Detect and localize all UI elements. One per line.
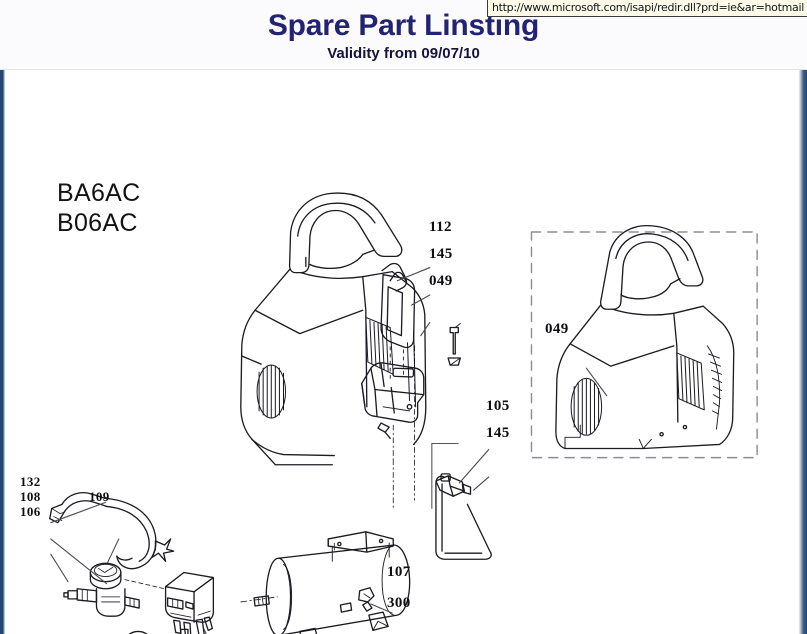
callout-108: 108 (20, 489, 41, 505)
model-code-1: BA6AC (57, 179, 140, 208)
callout-106: 106 (20, 504, 41, 520)
callout-145-tube: 145 (486, 425, 510, 442)
model-code-2: B06AC (57, 209, 138, 238)
diagram-canvas: BA6AC B06AC (5, 71, 799, 634)
page-root: Spare Part Linsting Validity from 09/07/… (0, 0, 807, 634)
callout-112: 112 (429, 219, 452, 236)
status-bar-url-tooltip: http://www.microsoft.com/isapi/redir.dll… (487, 0, 807, 17)
page-subtitle: Validity from 09/07/10 (0, 45, 807, 62)
exploded-parts-drawing (5, 71, 799, 634)
callout-049-inset: 049 (545, 321, 569, 338)
callout-105: 105 (486, 398, 510, 415)
callout-109-valve: 109 (89, 489, 110, 505)
callout-300: 300 (387, 595, 411, 612)
page-edge-left (0, 70, 5, 634)
page-edge-right (799, 70, 807, 634)
callout-107: 107 (387, 564, 411, 581)
callout-145-top: 145 (429, 246, 453, 263)
callout-132: 132 (20, 474, 41, 490)
callout-049-top: 049 (429, 273, 453, 290)
